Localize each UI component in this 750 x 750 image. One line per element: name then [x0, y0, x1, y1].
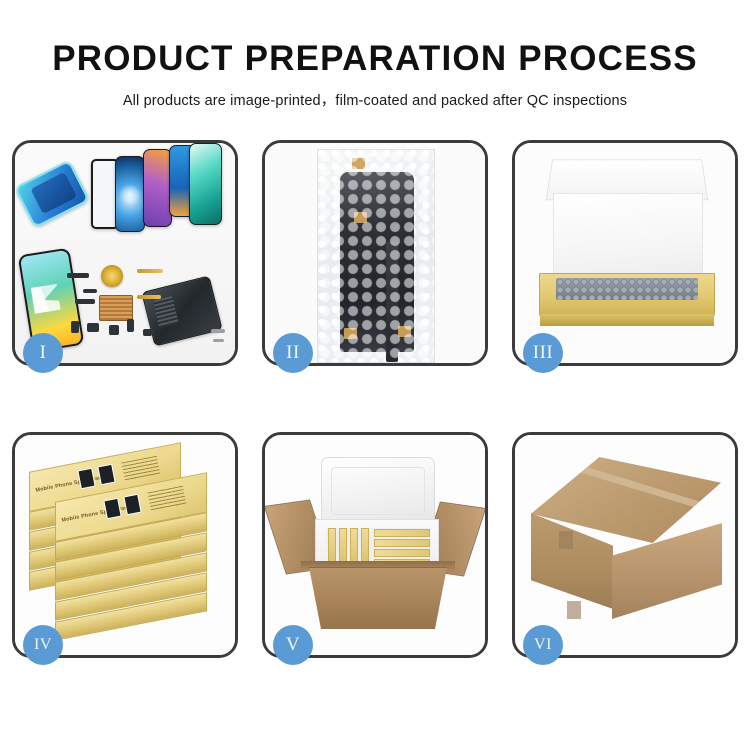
step-3-badge: III: [523, 333, 563, 373]
product-preparation-infographic: PRODUCT PREPARATION PROCESS All products…: [0, 0, 750, 750]
flex-cable-icon: [137, 295, 161, 299]
step-6-badge: VI: [523, 625, 563, 665]
step-1-image: [15, 143, 235, 363]
adhesive-frame-icon: [15, 159, 90, 228]
phone-back-panel-icon: [141, 275, 222, 346]
step-6-image: [515, 435, 735, 655]
step-5-image: [265, 435, 485, 655]
step-1-badge: I: [23, 333, 63, 373]
part-icon: [67, 273, 89, 278]
carton-seal-icon: [567, 601, 581, 619]
page-title: PRODUCT PREPARATION PROCESS: [0, 38, 750, 80]
page-subtitle: All products are image-printed，film-coat…: [0, 89, 750, 110]
part-icon: [75, 299, 95, 304]
box-stack-icon: Mobile Phone Spare Parts Mobile Phone Sp…: [23, 451, 231, 647]
bubble-bag-icon: [317, 149, 435, 363]
screw-icon: [211, 329, 225, 333]
phone-blue-icon: [115, 156, 145, 232]
part-icon: [87, 323, 99, 332]
step-3-image: [515, 143, 735, 363]
speaker-coil-icon: [101, 265, 123, 287]
part-icon: [127, 319, 134, 332]
screw-icon: [213, 339, 224, 342]
yellow-box-icon: [374, 529, 430, 537]
carton-loading-scene: [265, 435, 485, 655]
chip-board-icon: [99, 295, 133, 321]
box-stack-scene: Mobile Phone Spare Parts Mobile Phone Sp…: [15, 435, 235, 655]
process-step-grid: I II: [12, 140, 738, 680]
step-2-badge: II: [273, 333, 313, 373]
step-2-image: [265, 143, 485, 363]
bubble-wrap-scene: [265, 143, 485, 363]
inner-box-scene: [515, 143, 735, 363]
foam-sheet-icon: [553, 193, 703, 279]
part-icon: [83, 289, 97, 293]
foam-lid-icon: [321, 457, 435, 525]
tray-side-icon: [540, 314, 714, 326]
bubble-texture: [318, 150, 434, 362]
phones-and-parts-scene: [15, 143, 235, 363]
process-step-5: V: [262, 432, 488, 658]
phone-teal-icon: [189, 143, 222, 225]
part-icon: [109, 325, 119, 335]
yellow-box-icon: [374, 539, 430, 547]
part-icon: [143, 329, 152, 336]
yellow-box-icon: [374, 549, 430, 557]
sealed-carton-scene: [515, 435, 735, 655]
flex-cable-icon: [137, 269, 163, 273]
step-5-badge: V: [273, 625, 313, 665]
phone-purple-icon: [143, 149, 172, 227]
kraft-tray-icon: [539, 273, 715, 317]
part-icon: [71, 321, 79, 333]
carton-right-face: [612, 523, 722, 619]
header: PRODUCT PREPARATION PROCESS All products…: [0, 0, 750, 110]
process-step-4: Mobile Phone Spare Parts Mobile Phone Sp…: [12, 432, 238, 658]
step-4-image: Mobile Phone Spare Parts Mobile Phone Sp…: [15, 435, 235, 655]
process-step-2: II: [262, 140, 488, 366]
carton-seal-icon: [559, 531, 573, 549]
process-step-1: I: [12, 140, 238, 366]
carton-body-icon: [303, 567, 453, 629]
bubble-wrapped-item-icon: [556, 278, 698, 300]
process-step-3: III: [512, 140, 738, 366]
step-4-badge: IV: [23, 625, 63, 665]
process-step-6: VI: [512, 432, 738, 658]
